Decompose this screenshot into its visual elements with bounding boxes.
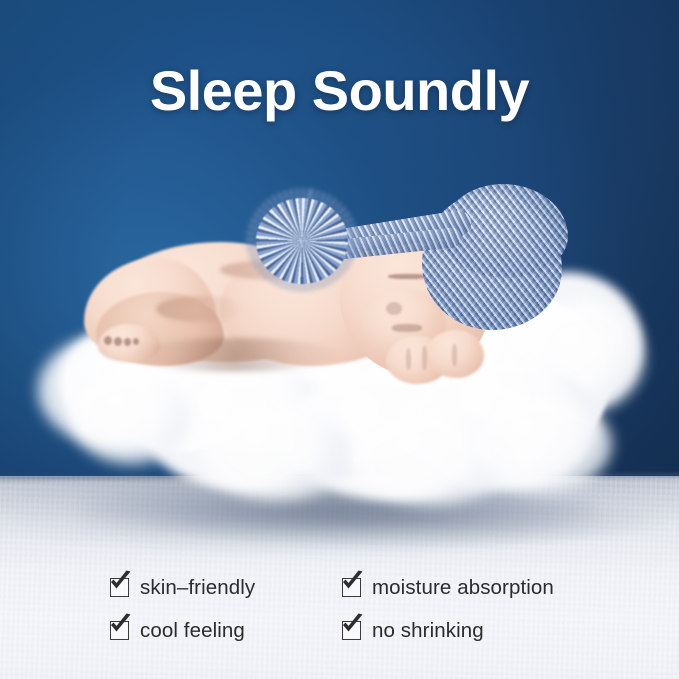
feature-label: no shrinking xyxy=(372,619,484,643)
baby-finger xyxy=(422,346,427,370)
feature-item-cool-feeling: cool feeling xyxy=(110,619,342,643)
baby-toes xyxy=(104,336,112,345)
checkbox-checked-icon xyxy=(110,621,129,640)
feature-label: cool feeling xyxy=(140,619,245,643)
checkbox-checked-icon xyxy=(342,621,361,640)
pom-pom xyxy=(256,198,348,284)
baby-toes xyxy=(124,338,131,346)
baby-finger xyxy=(406,348,411,370)
baby-finger xyxy=(452,344,457,366)
baby-toes xyxy=(133,338,139,345)
baby-leg-crease xyxy=(156,296,244,322)
baby-toes xyxy=(114,337,122,346)
baby-nose xyxy=(386,302,402,315)
checkbox-checked-icon xyxy=(342,578,361,597)
feature-item-moisture-absorption: moisture absorption xyxy=(342,576,610,600)
feature-item-no-shrinking: no shrinking xyxy=(342,619,610,643)
page-title: Sleep Soundly xyxy=(0,62,679,121)
baby-mouth xyxy=(392,324,422,332)
baby-figure xyxy=(70,196,590,396)
feature-list: skin–friendly moisture absorption cool f… xyxy=(110,566,610,652)
feature-label: skin–friendly xyxy=(140,576,255,600)
checkbox-checked-icon xyxy=(110,578,129,597)
feature-item-skin-friendly: skin–friendly xyxy=(110,576,342,600)
baby-body-shadow xyxy=(130,338,340,372)
feature-label: moisture absorption xyxy=(372,576,554,600)
product-lifestyle-banner: Sleep Soundly xyxy=(0,0,679,679)
